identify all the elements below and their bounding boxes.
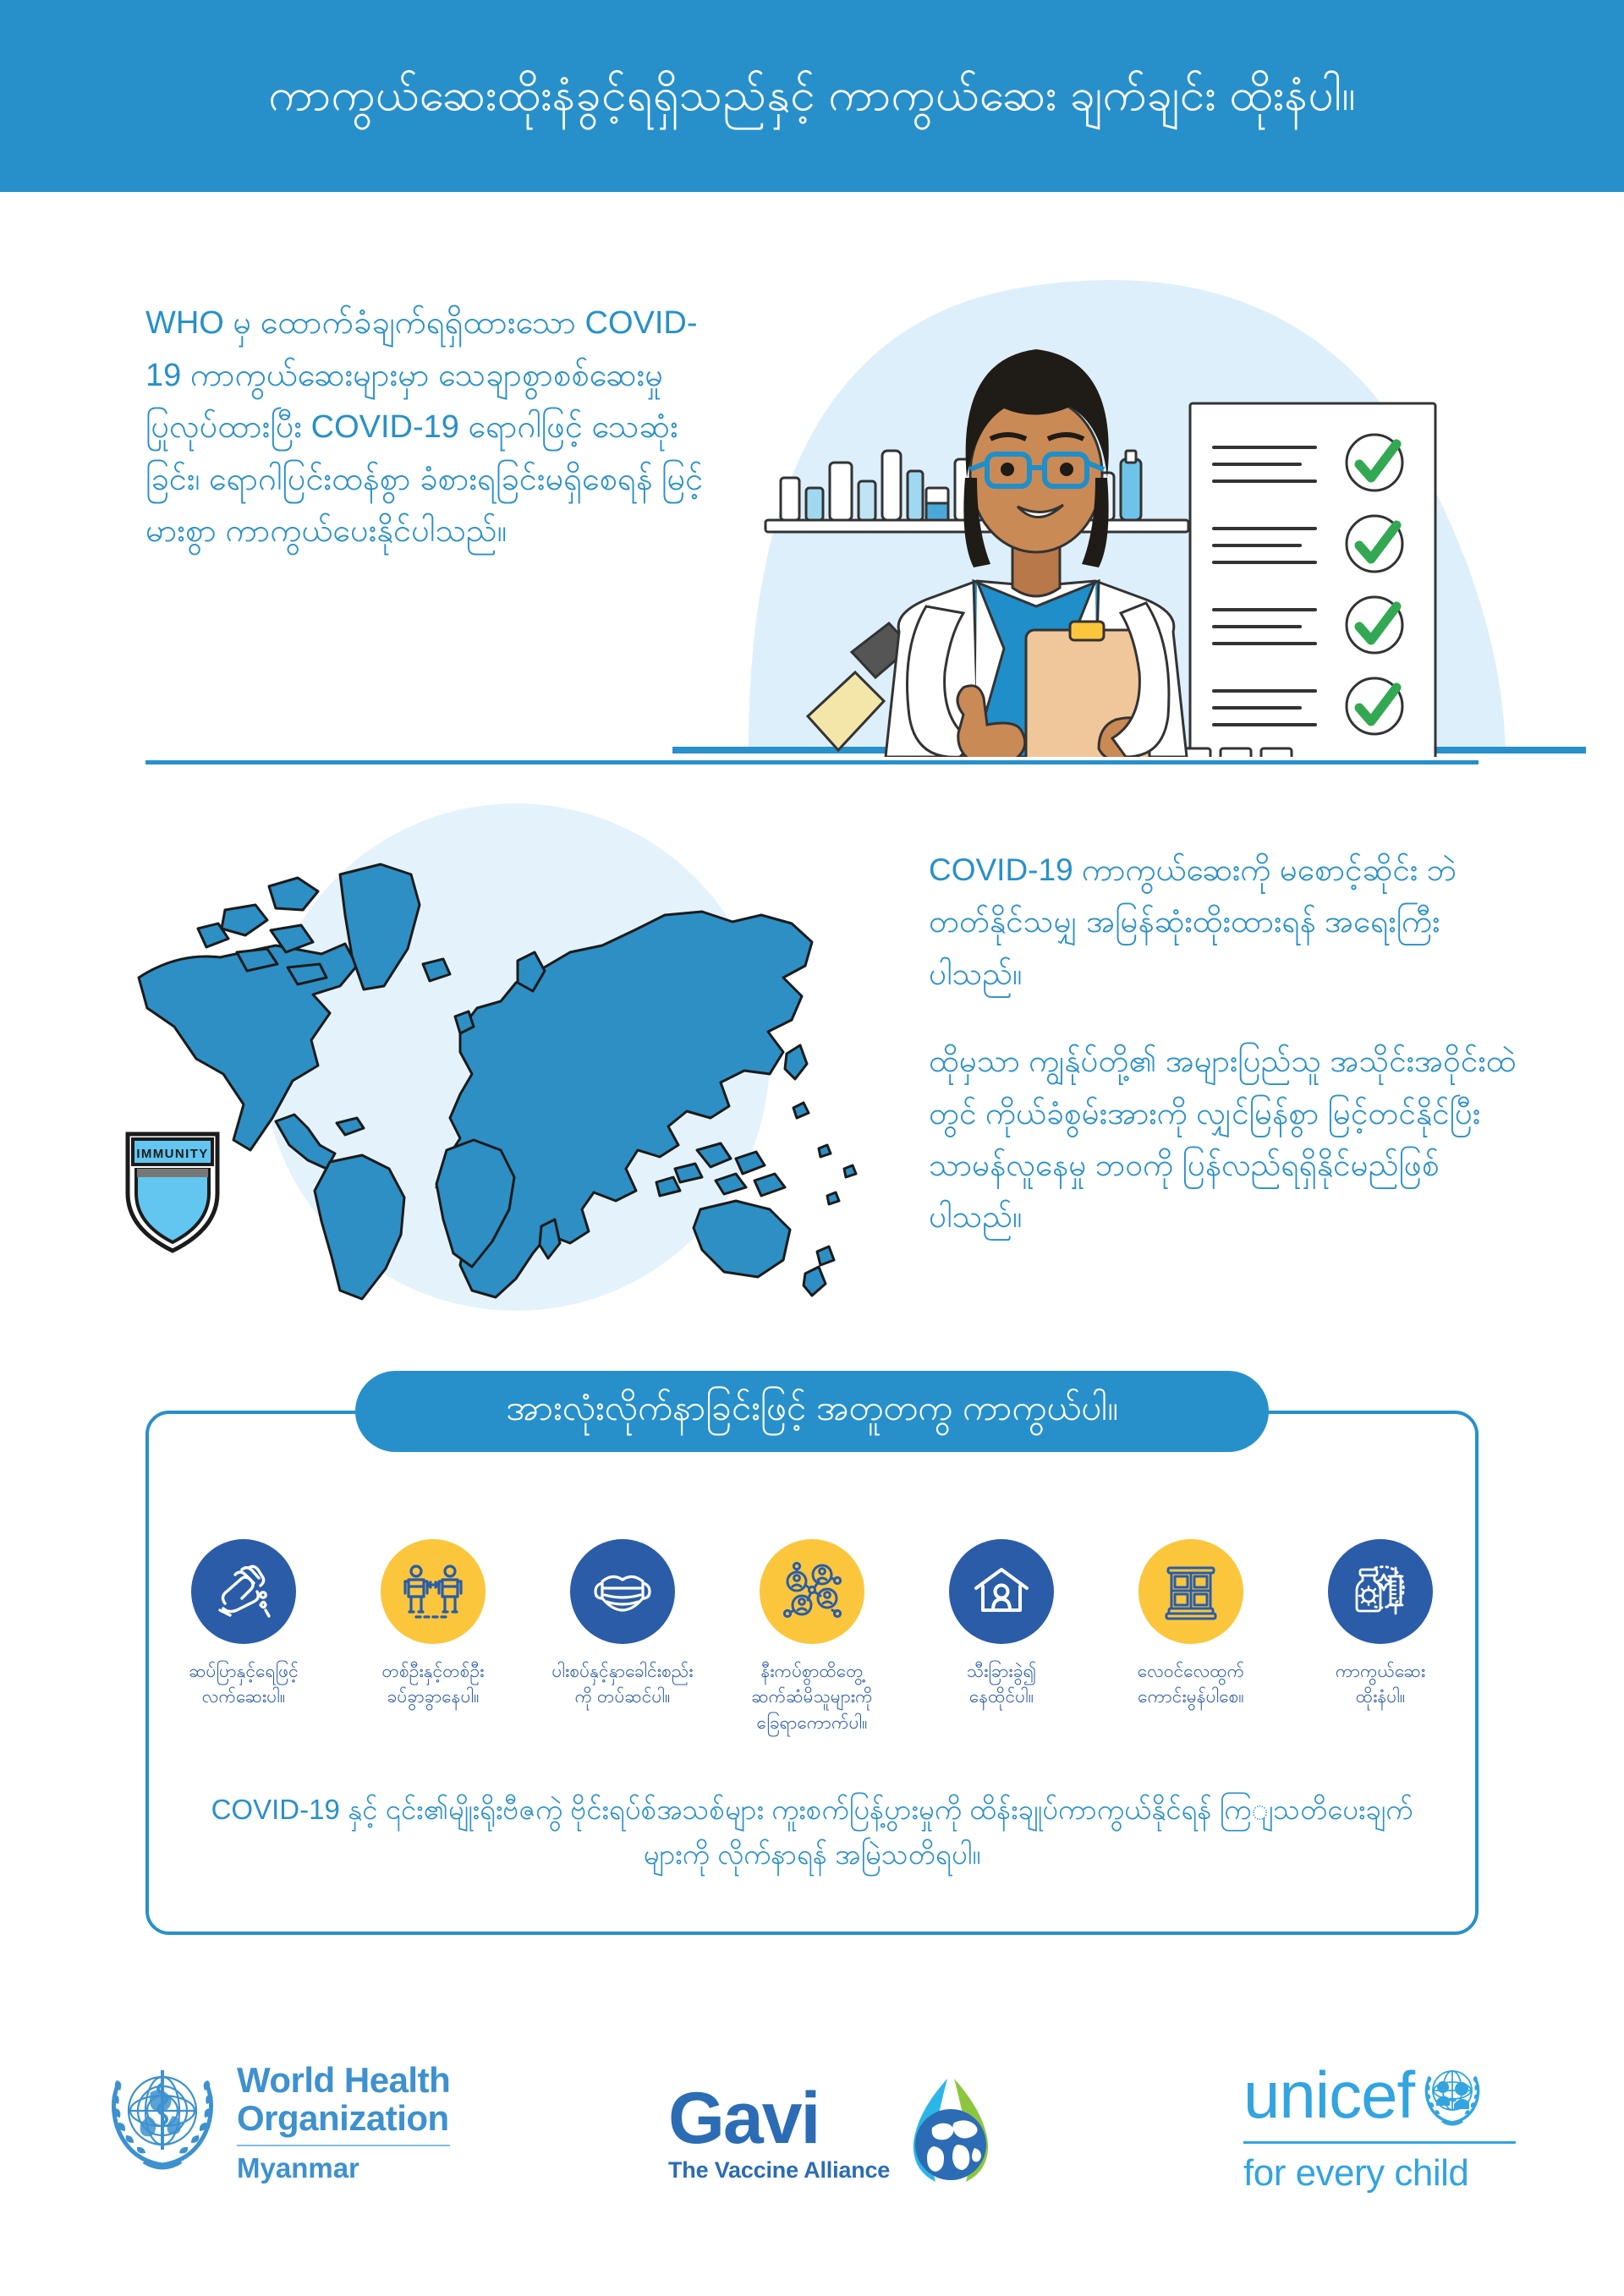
who-approval-paragraph: WHO မှ ထောက်ခံချက်ရရှိထားသော COVID-19 ကာ…: [145, 298, 721, 558]
stay-home-icon: [949, 1539, 1054, 1644]
face-mask-icon: [570, 1539, 675, 1644]
who-emblem-icon: [100, 2055, 225, 2180]
partner-logos: World Health Organization Myanmar Gavi T…: [0, 2013, 1624, 2296]
who-country: Myanmar: [237, 2152, 450, 2184]
map-paragraph-1: COVID-19 ကာကွယ်ဆေးကို မစောင့်ဆိုင်း ဘဲ တ…: [929, 844, 1521, 1000]
who-name-line1: World Health: [237, 2062, 450, 2100]
unicef-emblem-icon: [1419, 2065, 1485, 2131]
who-logo: World Health Organization Myanmar: [100, 2055, 450, 2184]
social-distance-icon: [381, 1539, 486, 1644]
gavi-globe-droplet-icon: [895, 2075, 1005, 2194]
prevention-measures-row: ဆပ်ပြာနှင့်ရေဖြင့်လက်ဆေးပါ။: [159, 1539, 1465, 1736]
section-divider: [145, 760, 1479, 764]
contact-tracing-icon: [760, 1539, 864, 1644]
measure-item-distance[interactable]: တစ်ဦးနှင့်တစ်ဦးခပ်ခွာခွာနေပါ။: [348, 1539, 518, 1711]
poster-title: ကာကွယ်ဆေးထိုးနံခွင့်ရရှိသည်နှင့် ကာကွယ်ဆ…: [234, 68, 1390, 123]
world-map-illustration: [118, 786, 880, 1311]
measures-banner: အားလုံးလိုက်နာခြင်းဖြင့် အတူတကွ ကာကွယ်ပါ…: [355, 1371, 1269, 1452]
measure-item-handwash[interactable]: ဆပ်ပြာနှင့်ရေဖြင့်လက်ဆေးပါ။: [159, 1539, 328, 1711]
unicef-divider: [1243, 2141, 1516, 2144]
unicef-logo: unicef: [1243, 2065, 1516, 2195]
measure-label: သီးခြားခွဲ၍နေထိုင်ပါ။: [967, 1659, 1036, 1711]
measure-item-ventilation[interactable]: လေဝင်လေထွက်ကောင်းမွန်ပါစေ။: [1106, 1539, 1276, 1711]
scientist-lab-illustration: [672, 209, 1586, 757]
who-approval-section: WHO မှ ထောက်ခံချက်ရရှိထားသော COVID-19 ကာ…: [0, 192, 1624, 786]
map-urgency-text: COVID-19 ကာကွယ်ဆေးကို မစောင့်ဆိုင်း ဘဲ တ…: [929, 844, 1521, 1243]
unicef-name: unicef: [1243, 2065, 1414, 2126]
map-paragraph-2: ထိုမှသာ ကျွန်ုပ်တို့၏ အများပြည်သူ အသိုင်…: [929, 1035, 1521, 1243]
who-divider: [237, 2145, 450, 2146]
measure-item-vaccine[interactable]: ကာကွယ်ဆေးထိုးနံပါ။: [1296, 1539, 1465, 1711]
who-name-line2: Organization: [237, 2100, 450, 2138]
measure-label: လေဝင်လေထွက်ကောင်းမွန်ပါစေ။: [1138, 1659, 1244, 1711]
vaccine-vial-syringe-icon: [1328, 1539, 1433, 1644]
unicef-tagline: for every child: [1243, 2152, 1516, 2195]
gavi-name: Gavi: [668, 2085, 890, 2152]
measure-label: ဆပ်ပြာနှင့်ရေဖြင့်လက်ဆေးပါ။: [189, 1659, 299, 1711]
poster-header: ကာကွယ်ဆေးထိုးနံခွင့်ရရှိသည်နှင့် ကာကွယ်ဆ…: [0, 0, 1624, 192]
measure-label: ပါးစပ်နှင့်နှာခေါင်းစည်းကို တပ်ဆင်ပါ။: [551, 1659, 693, 1711]
measures-footer-text: COVID-19 နှင့် ၎င်း၏မျိုးရိုးဗီဇကွဲ ဗိုင…: [195, 1787, 1429, 1877]
immunity-shield-icon: IMMUNITY: [123, 1129, 222, 1254]
gavi-tagline: The Vaccine Alliance: [668, 2157, 890, 2184]
measure-item-contact-tracing[interactable]: နီးကပ်စွာထိတွေ့ဆက်ဆံမိသူများကိုခြေရာကောက…: [727, 1539, 897, 1736]
map-urgency-section: COVID-19 ကာကွယ်ဆေးကို မစောင့်ဆိုင်း ဘဲ တ…: [0, 786, 1624, 1336]
ventilation-window-icon: [1138, 1539, 1243, 1644]
measure-label: တစ်ဦးနှင့်တစ်ဦးခပ်ခွာခွာနေပါ။: [382, 1659, 485, 1711]
measures-banner-text: အားလုံးလိုက်နာခြင်းဖြင့် အတူတကွ ကာကွယ်ပါ…: [506, 1385, 1118, 1438]
measure-label: ကာကွယ်ဆေးထိုးနံပါ။: [1336, 1659, 1425, 1711]
measure-label: နီးကပ်စွာထိတွေ့ဆက်ဆံမိသူများကိုခြေရာကောက…: [751, 1659, 872, 1736]
infographic-poster: ကာကွယ်ဆေးထိုးနံခွင့်ရရှိသည်နှင့် ကာကွယ်ဆ…: [0, 0, 1624, 2296]
shield-label: IMMUNITY: [136, 1147, 208, 1161]
gavi-logo: Gavi The Vaccine Alliance: [668, 2075, 1005, 2194]
measure-item-stay-home[interactable]: သီးခြားခွဲ၍နေထိုင်ပါ။: [917, 1539, 1086, 1711]
measure-item-mask[interactable]: ပါးစပ်နှင့်နှာခေါင်းစည်းကို တပ်ဆင်ပါ။: [538, 1539, 707, 1711]
handwash-icon: [191, 1539, 296, 1644]
